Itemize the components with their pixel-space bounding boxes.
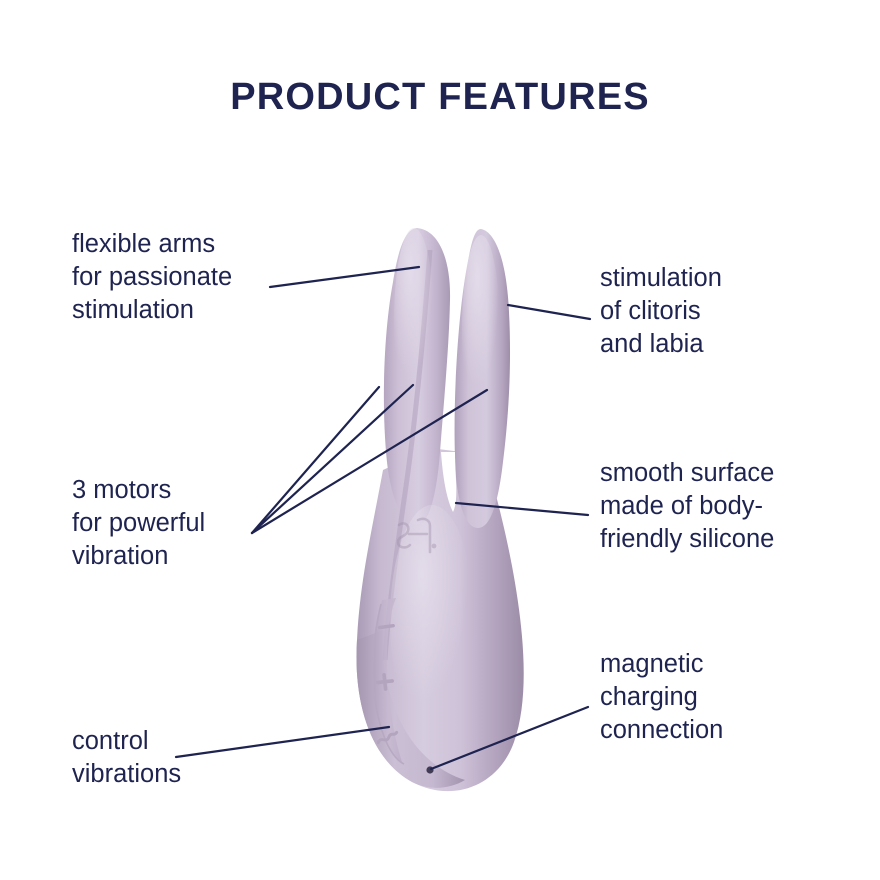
feature-label-smooth-surface: smooth surface made of body- friendly si…: [600, 457, 845, 556]
product-body-graphic: [356, 228, 523, 791]
feature-label-stimulation-clitoris-labia: stimulation of clitoris and labia: [600, 262, 840, 361]
feature-label-three-motors: 3 motors for powerful vibration: [72, 474, 302, 573]
feature-label-control-vibrations: control vibrations: [72, 725, 292, 791]
arm-right-highlight: [462, 235, 500, 425]
arm-left-highlight: [394, 228, 434, 412]
feature-label-flexible-arms: flexible arms for passionate stimulation: [72, 228, 287, 327]
feature-label-magnetic-charging: magnetic charging connection: [600, 648, 840, 747]
body-highlight: [390, 505, 474, 735]
leader-stimulation: [508, 305, 590, 319]
product-features-infographic: PRODUCT FEATURES: [0, 0, 880, 880]
